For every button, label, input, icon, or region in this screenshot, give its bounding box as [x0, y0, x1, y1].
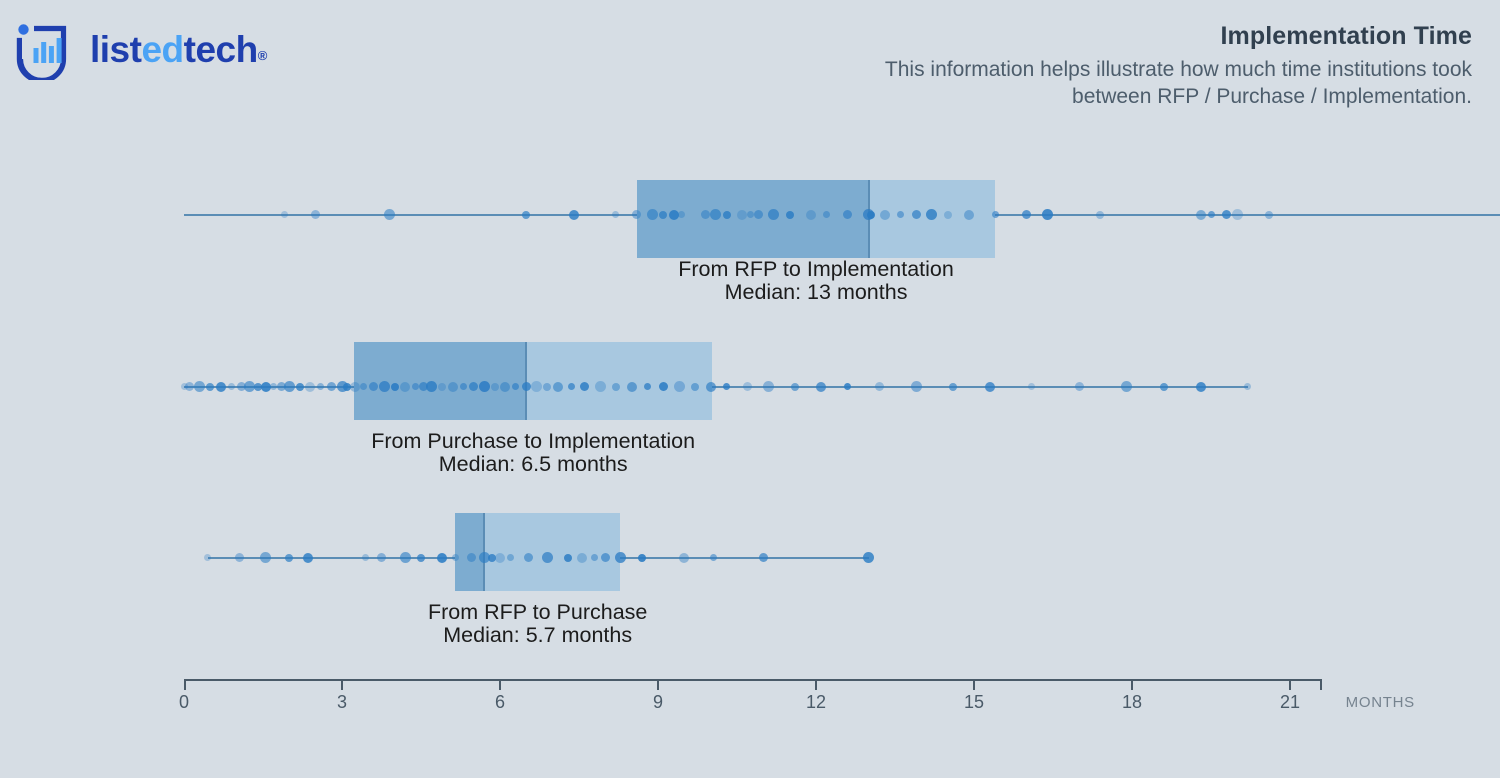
data-point — [206, 383, 214, 391]
data-point — [204, 554, 211, 561]
data-point — [1042, 209, 1053, 220]
data-point — [992, 211, 999, 218]
data-point — [479, 381, 490, 392]
data-point — [1222, 210, 1231, 219]
data-point — [303, 553, 313, 563]
data-point — [944, 211, 952, 219]
data-point — [260, 552, 271, 563]
x-axis-tick — [341, 679, 343, 690]
series-median-label: Median: 5.7 months — [188, 624, 888, 647]
data-point — [281, 211, 288, 218]
data-point — [467, 553, 476, 562]
data-point — [1075, 382, 1084, 391]
x-axis-tick-label: 18 — [1122, 692, 1142, 713]
data-point — [723, 383, 730, 390]
series-label: From Purchase to ImplementationMedian: 6… — [183, 430, 883, 476]
data-point — [216, 382, 226, 392]
data-point — [400, 552, 411, 563]
series-name-label: From Purchase to Implementation — [371, 429, 695, 453]
data-point — [362, 554, 369, 561]
data-point — [327, 382, 336, 391]
median-line — [525, 342, 527, 420]
data-point — [612, 383, 620, 391]
data-point — [674, 381, 685, 392]
data-point — [305, 382, 315, 392]
x-axis-tick — [499, 679, 501, 690]
data-point — [577, 553, 587, 563]
data-point — [1160, 383, 1168, 391]
data-point — [844, 383, 851, 390]
data-point — [194, 381, 205, 392]
x-axis-tick-label: 15 — [964, 692, 984, 713]
data-point — [964, 210, 974, 220]
data-point — [350, 382, 360, 392]
data-point — [270, 383, 277, 390]
x-axis-tick-label: 0 — [179, 692, 189, 713]
x-axis-tick — [184, 679, 186, 690]
x-axis-tick-label: 12 — [806, 692, 826, 713]
data-point — [384, 209, 395, 220]
data-point — [791, 383, 799, 391]
data-point — [360, 383, 367, 390]
data-point — [863, 552, 874, 563]
data-point — [1022, 210, 1031, 219]
series-name-label: From RFP to Purchase — [428, 600, 647, 624]
x-axis-tick — [1131, 679, 1133, 690]
data-point — [317, 383, 324, 390]
data-point — [723, 211, 731, 219]
x-axis-tick — [1289, 679, 1291, 690]
data-point — [786, 211, 794, 219]
series-name-label: From RFP to Implementation — [678, 257, 954, 281]
data-point — [759, 553, 768, 562]
box-upper-quartile — [526, 342, 712, 420]
data-point — [880, 210, 890, 220]
data-point — [1028, 383, 1035, 390]
x-axis-tick-label: 6 — [495, 692, 505, 713]
data-point — [379, 381, 390, 392]
series-median-label: Median: 13 months — [466, 281, 1166, 304]
data-point — [1232, 209, 1243, 220]
data-point — [569, 210, 579, 220]
box-lower-quartile — [455, 513, 484, 591]
x-axis-end-cap-tick — [1320, 679, 1322, 690]
data-point — [1196, 382, 1206, 392]
data-point — [638, 554, 646, 562]
data-point — [311, 210, 320, 219]
data-point — [747, 211, 754, 218]
data-point — [1208, 211, 1215, 218]
data-point — [228, 383, 235, 390]
x-axis-tick-label: 9 — [653, 692, 663, 713]
data-point — [706, 382, 716, 392]
implementation-time-infographic: listedtech® Implementation Time This inf… — [0, 0, 1500, 778]
data-point — [495, 553, 505, 563]
data-point — [816, 382, 826, 392]
data-point — [754, 210, 763, 219]
data-point — [285, 554, 293, 562]
data-point — [491, 383, 499, 391]
data-point — [612, 211, 619, 218]
series-median-label: Median: 6.5 months — [183, 453, 883, 476]
data-point — [710, 554, 717, 561]
x-axis-unit-label: MONTHS — [1346, 694, 1415, 711]
data-point — [185, 382, 194, 391]
box-upper-quartile — [484, 513, 620, 591]
data-point — [1096, 211, 1104, 219]
data-point — [679, 553, 689, 563]
data-point — [763, 381, 774, 392]
x-axis-line — [184, 679, 1322, 681]
data-point — [949, 383, 957, 391]
data-point — [595, 381, 606, 392]
data-point — [448, 382, 458, 392]
data-point — [1196, 210, 1206, 220]
data-point — [1265, 211, 1273, 219]
data-point — [806, 210, 816, 220]
data-point — [615, 552, 626, 563]
data-point — [400, 382, 410, 392]
series-label: From RFP to PurchaseMedian: 5.7 months — [188, 601, 888, 647]
box-lower-quartile — [354, 342, 526, 420]
data-point — [296, 383, 304, 391]
data-point — [985, 382, 995, 392]
boxplot-chart: From RFP to ImplementationMedian: 13 mon… — [0, 0, 1500, 778]
data-point — [912, 210, 921, 219]
data-point — [568, 383, 575, 390]
data-point — [627, 382, 637, 392]
data-point — [522, 211, 530, 219]
data-point — [377, 553, 386, 562]
data-point — [691, 383, 699, 391]
data-point — [417, 554, 425, 562]
data-point — [743, 382, 752, 391]
data-point — [1121, 381, 1132, 392]
series-label: From RFP to ImplementationMedian: 13 mon… — [466, 258, 1166, 304]
x-axis-tick-label: 21 — [1280, 692, 1300, 713]
data-point — [553, 382, 563, 392]
data-point — [437, 553, 447, 563]
data-point — [235, 553, 244, 562]
data-point — [911, 381, 922, 392]
x-axis-tick-label: 3 — [337, 692, 347, 713]
data-point — [1244, 383, 1251, 390]
x-axis-tick — [657, 679, 659, 690]
data-point — [875, 382, 884, 391]
x-axis-tick — [815, 679, 817, 690]
data-point — [438, 383, 446, 391]
x-axis-tick — [973, 679, 975, 690]
data-point — [460, 383, 467, 390]
data-point — [391, 383, 399, 391]
data-point — [284, 381, 295, 392]
